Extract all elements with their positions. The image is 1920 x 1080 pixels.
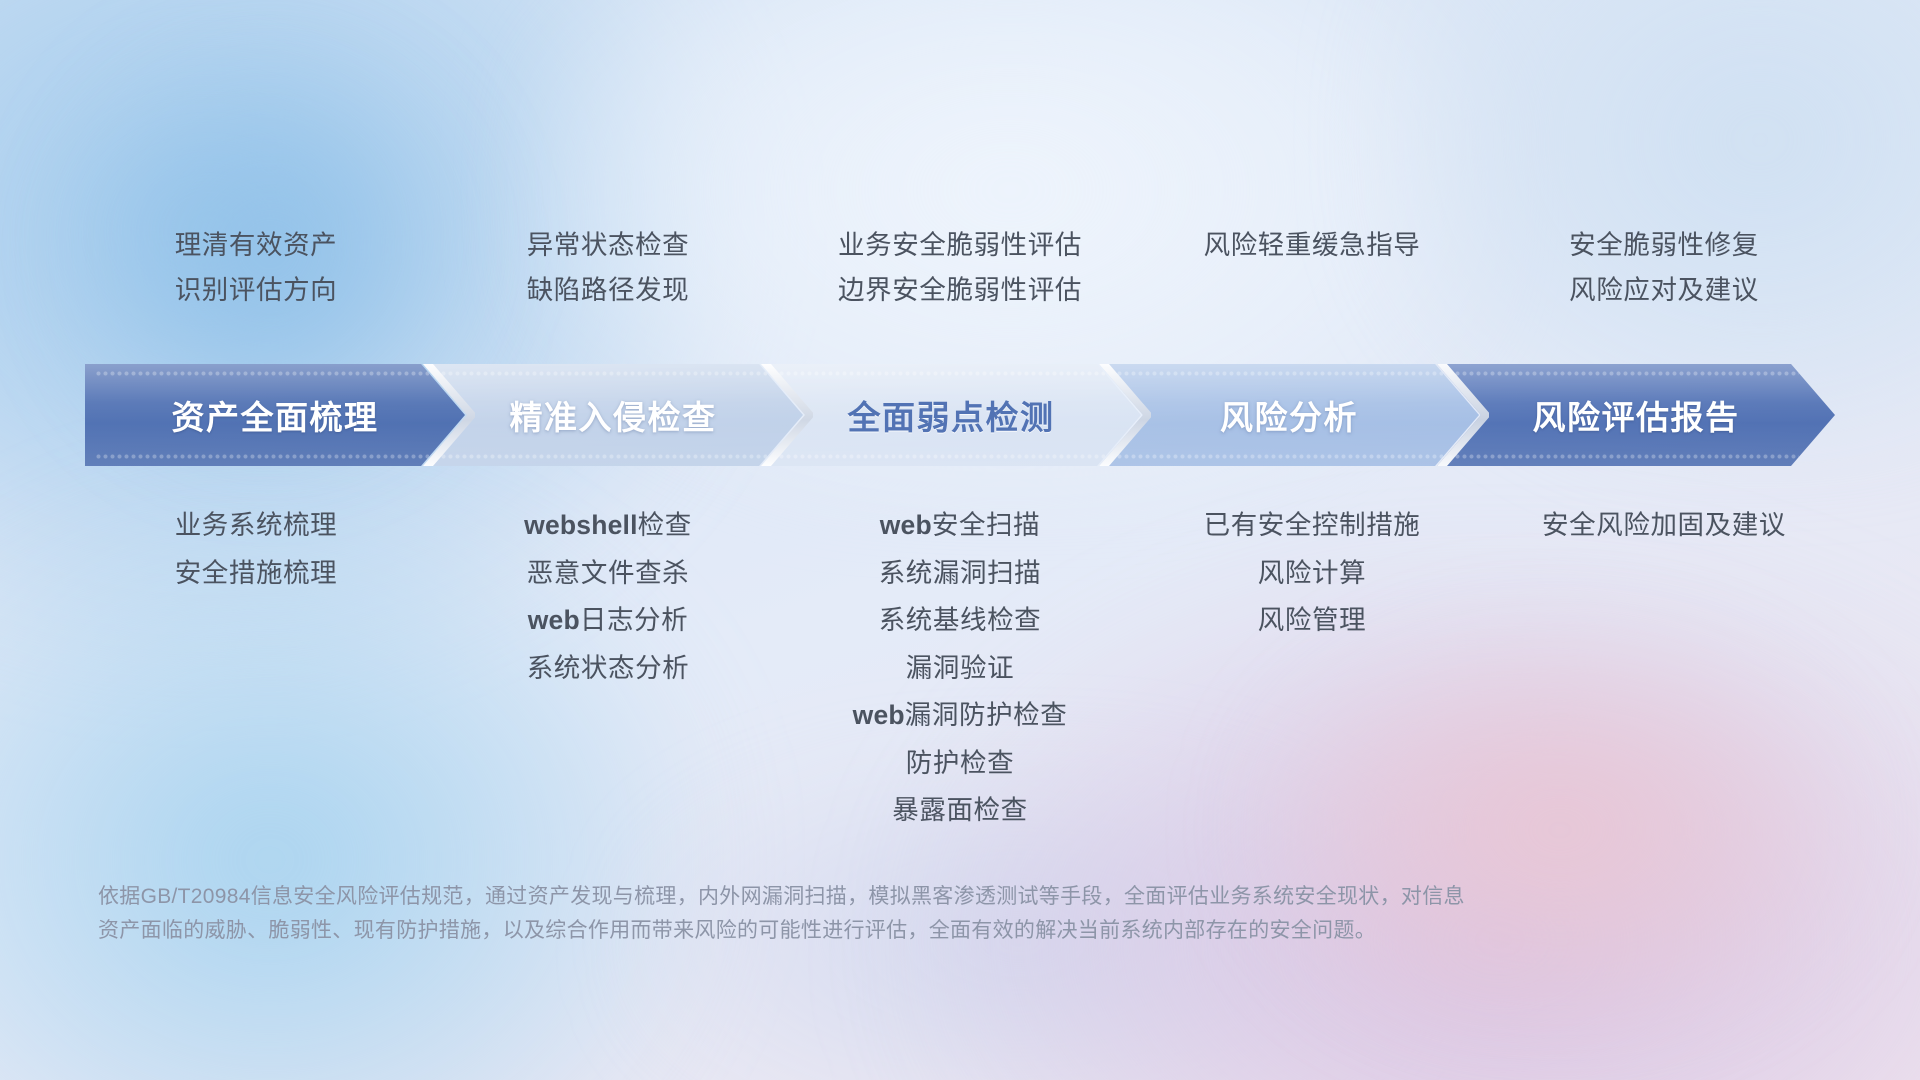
stage-outcomes-5: 安全脆弱性修复 风险应对及建议 <box>1488 232 1840 342</box>
activity-item: 系统漏洞扫描 <box>879 560 1042 587</box>
stage-outcomes-2: 异常状态检查 缺陷路径发现 <box>432 232 784 342</box>
activity-item: web安全扫描 <box>880 512 1041 539</box>
outcome-label: 风险轻重缓急指导 <box>1204 232 1421 259</box>
footer-line: 依据GB/T20984信息安全风险评估规范，通过资产发现与梳理，内外网漏洞扫描，… <box>98 880 1658 914</box>
outcome-label: 缺陷路径发现 <box>527 277 690 304</box>
chevron-dot-texture-bottom <box>433 453 767 460</box>
stage-chevron-5[interactable]: 风险评估报告 <box>1437 364 1835 466</box>
activity-item: 风险计算 <box>1258 560 1366 587</box>
chevron-dot-texture-top <box>433 370 767 377</box>
footer-line: 资产面临的威胁、脆弱性、现有防护措施，以及综合作用而带来风险的可能性进行评估，全… <box>98 914 1658 948</box>
stage-label: 风险分析 <box>1099 391 1479 439</box>
outcome-label: 边界安全脆弱性评估 <box>838 277 1082 304</box>
chevron-dot-texture-top <box>95 370 429 377</box>
stage-chevron-3[interactable]: 全面弱点检测 <box>761 364 1141 466</box>
activity-item: 风险管理 <box>1258 607 1366 634</box>
outcome-label: 业务安全脆弱性评估 <box>838 232 1082 259</box>
stage-activities-5: 安全风险加固及建议 <box>1488 512 1840 812</box>
stage-outcomes-row: 理清有效资产 识别评估方向 异常状态检查 缺陷路径发现 业务安全脆弱性评估 边界… <box>80 232 1840 342</box>
outcome-label: 识别评估方向 <box>175 277 338 304</box>
stage-chevron-4[interactable]: 风险分析 <box>1099 364 1479 466</box>
activity-item: 系统基线检查 <box>879 607 1042 634</box>
chevron-dot-texture-bottom <box>771 453 1105 460</box>
chevron-dot-texture-top <box>1109 370 1443 377</box>
outcome-label: 理清有效资产 <box>175 232 338 259</box>
stage-activities-1: 业务系统梳理 安全措施梳理 <box>80 512 432 812</box>
stage-label: 风险评估报告 <box>1437 391 1835 439</box>
footer-description: 依据GB/T20984信息安全风险评估规范，通过资产发现与梳理，内外网漏洞扫描，… <box>98 880 1658 948</box>
stage-label: 资产全面梳理 <box>85 391 465 439</box>
outcome-label: 异常状态检查 <box>527 232 690 259</box>
process-diagram: 理清有效资产 识别评估方向 异常状态检查 缺陷路径发现 业务安全脆弱性评估 边界… <box>0 0 1920 1080</box>
outcome-label: 风险应对及建议 <box>1569 277 1759 304</box>
activity-item: 防护检查 <box>906 750 1014 777</box>
activity-item: 业务系统梳理 <box>175 512 338 539</box>
stage-chevron-band: 资产全面梳理 精准入侵检查 全面弱点检测 <box>85 364 1835 466</box>
chevron-dot-texture-bottom <box>95 453 429 460</box>
activity-item: 漏洞验证 <box>906 655 1014 682</box>
stage-label: 全面弱点检测 <box>761 391 1141 439</box>
stage-activities-4: 已有安全控制措施 风险计算 风险管理 <box>1136 512 1488 812</box>
stage-outcomes-4: 风险轻重缓急指导 <box>1136 232 1488 342</box>
activity-item: 安全风险加固及建议 <box>1542 512 1786 539</box>
activity-item: 暴露面检查 <box>892 797 1028 824</box>
activity-item: 安全措施梳理 <box>175 560 338 587</box>
activity-item: 已有安全控制措施 <box>1204 512 1421 539</box>
stage-label: 精准入侵检查 <box>423 391 803 439</box>
activity-item: webshell检查 <box>524 512 692 539</box>
chevron-dot-texture-top <box>1447 370 1799 377</box>
activity-item: 恶意文件查杀 <box>527 560 690 587</box>
chevron-dot-texture-top <box>771 370 1105 377</box>
activity-item: web日志分析 <box>528 607 689 634</box>
outcome-label: 安全脆弱性修复 <box>1569 232 1759 259</box>
stage-outcomes-3: 业务安全脆弱性评估 边界安全脆弱性评估 <box>784 232 1136 342</box>
stage-activities-2: webshell检查 恶意文件查杀 web日志分析 系统状态分析 <box>432 512 784 812</box>
stage-activities-row: 业务系统梳理 安全措施梳理 webshell检查 恶意文件查杀 web日志分析 … <box>80 512 1840 812</box>
chevron-dot-texture-bottom <box>1109 453 1443 460</box>
activity-item: web漏洞防护检查 <box>853 702 1068 729</box>
stage-chevron-2[interactable]: 精准入侵检查 <box>423 364 803 466</box>
stage-chevron-1[interactable]: 资产全面梳理 <box>85 364 465 466</box>
stage-activities-3: web安全扫描 系统漏洞扫描 系统基线检查 漏洞验证 web漏洞防护检查 防护检… <box>784 512 1136 812</box>
chevron-dot-texture-bottom <box>1447 453 1799 460</box>
stage-outcomes-1: 理清有效资产 识别评估方向 <box>80 232 432 342</box>
activity-item: 系统状态分析 <box>527 655 690 682</box>
